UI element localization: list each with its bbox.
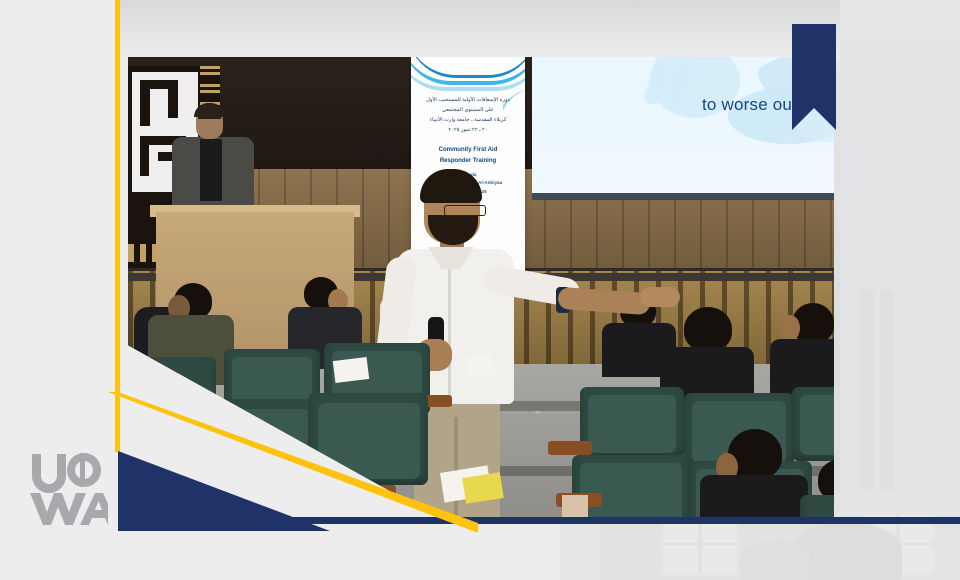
top-sheen <box>120 0 840 60</box>
uowa-logo <box>28 452 108 526</box>
page-canvas: to worse outc <box>0 0 960 580</box>
corner-flag-icon <box>792 24 836 130</box>
banner-arabic-block: دورة الإسعافات الأولية للمستجيب الأول عل… <box>417 95 519 135</box>
banner-english-title: Community First Aid Responder Training <box>417 145 519 167</box>
left-yellow-rule <box>115 0 120 452</box>
eyeglasses-icon <box>444 205 486 216</box>
screen-text: to worse outc <box>702 95 806 115</box>
projection-screen: to worse outc <box>532 57 834 200</box>
event-photo: to worse outc <box>128 57 834 522</box>
event-banner: دورة الإسعافات الأولية للمستجيب الأول عل… <box>411 57 525 275</box>
bottom-navy-rule <box>284 517 960 524</box>
